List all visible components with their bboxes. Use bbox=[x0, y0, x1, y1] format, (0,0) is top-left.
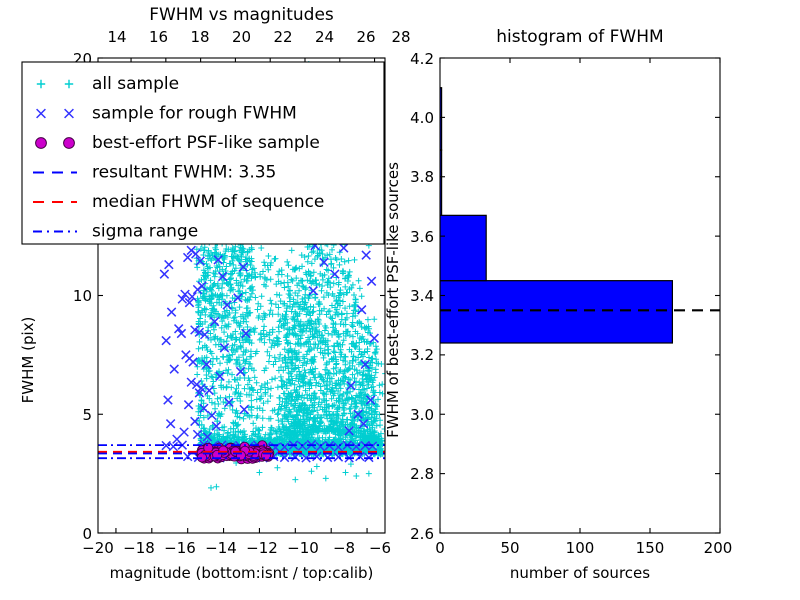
matplotlib-figure: FWHM vs magnitudes 14 16 18 20 22 24 26 … bbox=[0, 0, 800, 600]
top-tick-label: 14 bbox=[107, 28, 126, 46]
top-tick-label: 18 bbox=[190, 28, 209, 46]
x-tick-label: 0 bbox=[435, 539, 445, 557]
x-tick-label: −16 bbox=[164, 539, 196, 557]
x-tick-label: 50 bbox=[500, 539, 519, 557]
y-tick-label: 5 bbox=[82, 406, 92, 424]
right-y-axis-ticklabels: 2.6 2.8 3.0 3.2 3.4 3.6 3.8 4.0 4.2 bbox=[410, 50, 434, 543]
top-tick-label: 24 bbox=[315, 28, 334, 46]
legend-label: best-effort PSF-like sample bbox=[92, 133, 320, 153]
x-tick-label: 100 bbox=[566, 539, 595, 557]
y-tick-label: 3.8 bbox=[410, 168, 434, 186]
legend-label: sample for rough FWHM bbox=[92, 104, 297, 124]
x-tick-label: −6 bbox=[369, 539, 391, 557]
top-tick-label: 20 bbox=[232, 28, 251, 46]
circle-marker bbox=[64, 138, 75, 149]
y-tick-label: 3.0 bbox=[410, 406, 434, 424]
legend-box bbox=[22, 62, 384, 244]
right-yaxis-label: FWHM of best-effort PSF-like sources bbox=[384, 162, 402, 438]
top-tick-label: 22 bbox=[273, 28, 292, 46]
x-tick-label: −10 bbox=[287, 539, 319, 557]
legend-label: median FHWM of sequence bbox=[92, 192, 324, 212]
figure-canvas: FWHM vs magnitudes 14 16 18 20 22 24 26 … bbox=[0, 0, 800, 600]
y-tick-label: 10 bbox=[73, 287, 92, 305]
y-tick-label: 3.4 bbox=[410, 287, 434, 305]
left-bottom-axis-ticklabels: −20 −18 −16 −14 −12 −10 −8 −6 bbox=[82, 539, 391, 557]
histogram-bar bbox=[440, 215, 486, 280]
y-tick-label: 4.0 bbox=[410, 109, 434, 127]
x-tick-label: 150 bbox=[636, 539, 665, 557]
y-tick-label: 3.2 bbox=[410, 346, 434, 364]
right-panel-title: histogram of FWHM bbox=[496, 27, 663, 47]
top-tick-label: 16 bbox=[149, 28, 168, 46]
circle-marker bbox=[36, 138, 47, 149]
x-tick-label: 200 bbox=[704, 539, 733, 557]
y-tick-label: 2.8 bbox=[410, 465, 434, 483]
legend-label: sigma range bbox=[92, 222, 198, 242]
top-tick-label: 26 bbox=[356, 28, 375, 46]
left-xaxis-label: magnitude (bottom:isnt / top:calib) bbox=[110, 564, 374, 582]
y-tick-label: 0 bbox=[82, 525, 92, 543]
x-tick-label: −14 bbox=[205, 539, 237, 557]
histogram-bar bbox=[440, 281, 672, 343]
legend-label: resultant FWHM: 3.35 bbox=[92, 163, 276, 183]
top-tick-label: 28 bbox=[391, 28, 410, 46]
legend: all samplesample for rough FWHMbest-effo… bbox=[22, 62, 384, 244]
y-tick-label: 4.2 bbox=[410, 50, 434, 68]
legend-label: all sample bbox=[92, 74, 179, 94]
x-tick-label: −18 bbox=[123, 539, 155, 557]
left-panel-title: FWHM vs magnitudes bbox=[149, 5, 334, 25]
y-tick-label: 2.6 bbox=[410, 525, 434, 543]
y-tick-label: 3.6 bbox=[410, 228, 434, 246]
x-tick-label: −12 bbox=[246, 539, 278, 557]
right-xaxis-label: number of sources bbox=[510, 564, 650, 582]
x-tick-label: −8 bbox=[333, 539, 355, 557]
left-yaxis-label: FWHM (pix) bbox=[19, 317, 37, 404]
